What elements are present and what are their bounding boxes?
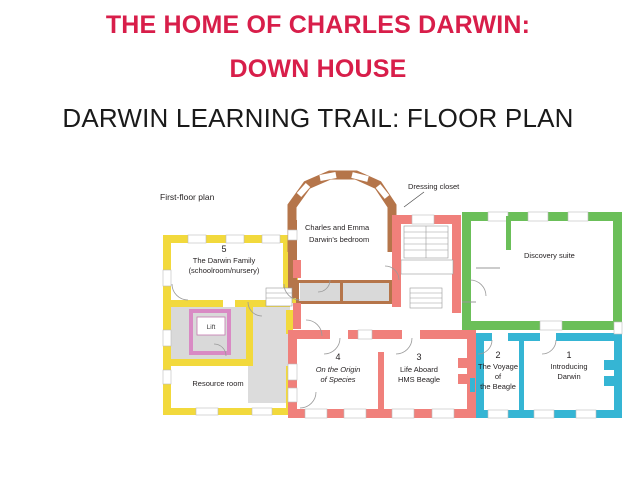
room-3-subtitle: HMS Beagle [398, 375, 440, 384]
label-bedroom-line1: Charles and Emma [305, 223, 370, 232]
staircase-main [404, 226, 448, 258]
room-5-subtitle: (schoolroom/nursery) [189, 266, 260, 275]
room-5-name: The Darwin Family [193, 256, 256, 265]
room-3-name: Life Aboard [400, 365, 438, 374]
room-2-subtitle: of [495, 372, 502, 381]
room-4-number: 4 [335, 352, 340, 362]
page-titles: THE HOME OF CHARLES DARWIN: DOWN HOUSE D… [0, 0, 636, 132]
page-title-line-1: THE HOME OF CHARLES DARWIN: [0, 6, 636, 38]
room-2-subtitle-2: the Beagle [480, 382, 516, 391]
room-3-number: 3 [416, 352, 421, 362]
label-resource-room: Resource room [192, 379, 243, 388]
room-5-number: 5 [221, 244, 226, 254]
room-2-name: The Voyage [478, 362, 518, 371]
room-2-number: 2 [495, 350, 500, 360]
label-discovery-suite: Discovery suite [524, 251, 575, 260]
label-bedroom-line2: Darwin's bedroom [309, 235, 369, 244]
page-subtitle: DARWIN LEARNING TRAIL: FLOOR PLAN [0, 83, 636, 132]
room-4-name: On the Origin [316, 365, 361, 374]
label-dressing-closet: Dressing closet [408, 182, 460, 191]
room-1-number: 1 [566, 350, 571, 360]
label-lift: Lift [207, 324, 216, 331]
room-1-name: Introducing [550, 362, 587, 371]
dressing-closet-leader [404, 192, 424, 207]
legend-clip: Before Darwin1843184618581876After Darwi… [0, 405, 210, 493]
room-1-subtitle: Darwin [557, 372, 580, 381]
floor-plan-svg: First-floor plan [0, 160, 636, 430]
floor-plan-diagram: First-floor plan [0, 160, 636, 430]
page-title-line-2: DOWN HOUSE [0, 38, 636, 82]
floor-plan-page: THE HOME OF CHARLES DARWIN: DOWN HOUSE D… [0, 0, 636, 493]
wing-1858-green [462, 212, 622, 330]
core-before-darwin [266, 215, 476, 418]
plan-caption: First-floor plan [160, 192, 215, 202]
room-4-subtitle: of Species [320, 375, 355, 384]
